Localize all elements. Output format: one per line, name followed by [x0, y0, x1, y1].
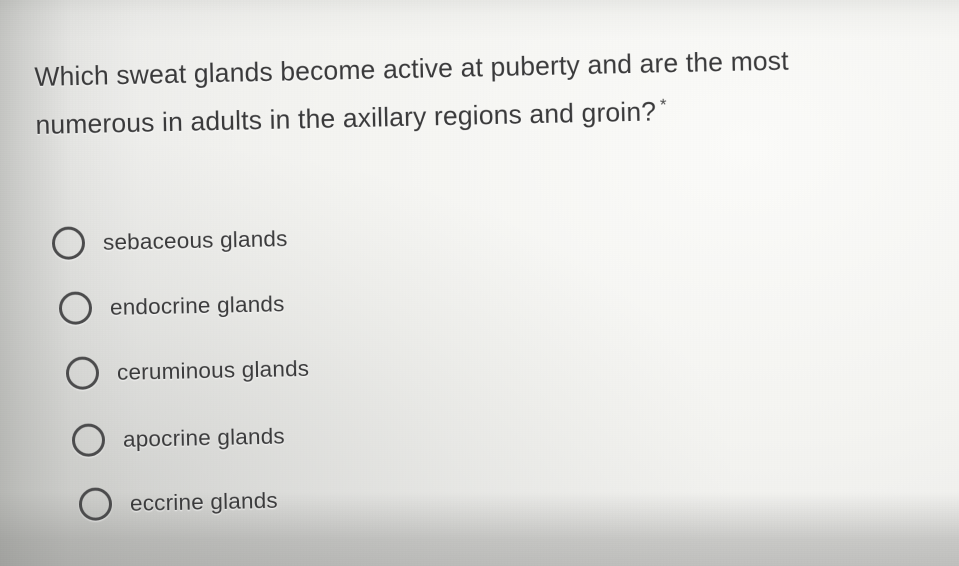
radio-button-icon[interactable] — [66, 356, 100, 390]
question-line-2-text: numerous in adults in the axillary regio… — [35, 96, 656, 140]
answer-option-label: apocrine glands — [123, 423, 285, 452]
radio-button-icon[interactable] — [52, 226, 86, 260]
answer-option-apocrine-glands[interactable]: apocrine glands — [72, 420, 286, 457]
answer-option-eccrine-glands[interactable]: eccrine glands — [79, 484, 279, 521]
answer-option-label: endocrine glands — [110, 291, 285, 321]
quiz-question-screen: Which sweat glands become active at pube… — [0, 0, 959, 566]
answer-option-label: eccrine glands — [130, 487, 278, 516]
answer-option-endocrine-glands[interactable]: endocrine glands — [59, 287, 285, 325]
radio-button-icon[interactable] — [72, 423, 106, 457]
required-asterisk: * — [656, 95, 667, 114]
answer-option-label: ceruminous glands — [117, 355, 310, 385]
radio-button-icon[interactable] — [79, 487, 113, 521]
question-text: Which sweat glands become active at pube… — [34, 37, 916, 146]
answer-option-ceruminous-glands[interactable]: ceruminous glands — [66, 352, 310, 390]
radio-button-icon[interactable] — [59, 291, 93, 325]
answer-option-sebaceous-glands[interactable]: sebaceous glands — [52, 222, 288, 260]
answer-option-label: sebaceous glands — [103, 226, 288, 256]
